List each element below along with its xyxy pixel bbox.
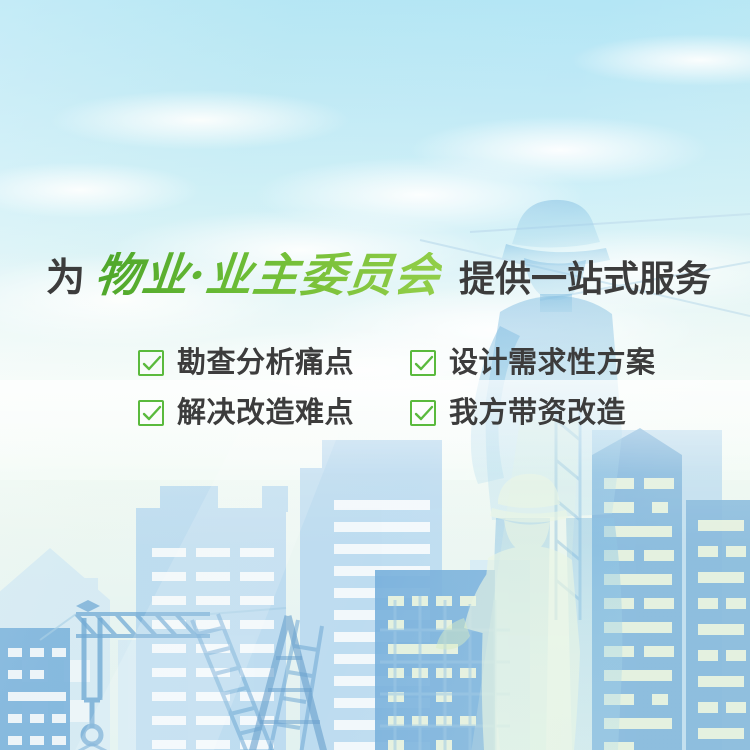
feature-item-1[interactable]: 勘查分析痛点 [138, 338, 410, 388]
feature-label: 勘查分析痛点 [177, 349, 354, 378]
feature-item-2[interactable]: 设计需求性方案 [410, 338, 682, 388]
feature-label: 我方带资改造 [449, 399, 626, 428]
feature-item-3[interactable]: 解决改造难点 [138, 388, 410, 438]
feature-label: 设计需求性方案 [449, 349, 656, 378]
checkbox-checked-icon[interactable] [138, 400, 164, 426]
headline-brush-text: 物业·业主委员会 [93, 252, 444, 298]
promo-banner: 为 物业·业主委员会 提供一站式服务 勘查分析痛点 设计需求性方 [0, 0, 750, 750]
checkbox-checked-icon[interactable] [410, 350, 436, 376]
checkbox-checked-icon[interactable] [138, 350, 164, 376]
checkbox-checked-icon[interactable] [410, 400, 436, 426]
feature-label: 解决改造难点 [177, 399, 354, 428]
headline-suffix: 提供一站式服务 [459, 261, 711, 297]
banner-content: 为 物业·业主委员会 提供一站式服务 勘查分析痛点 设计需求性方 [0, 0, 750, 750]
feature-item-4[interactable]: 我方带资改造 [410, 388, 682, 438]
feature-list: 勘查分析痛点 设计需求性方案 解决改造难点 [138, 338, 682, 438]
headline-prefix: 为 [46, 259, 85, 298]
headline: 为 物业·业主委员会 提供一站式服务 [46, 252, 711, 298]
